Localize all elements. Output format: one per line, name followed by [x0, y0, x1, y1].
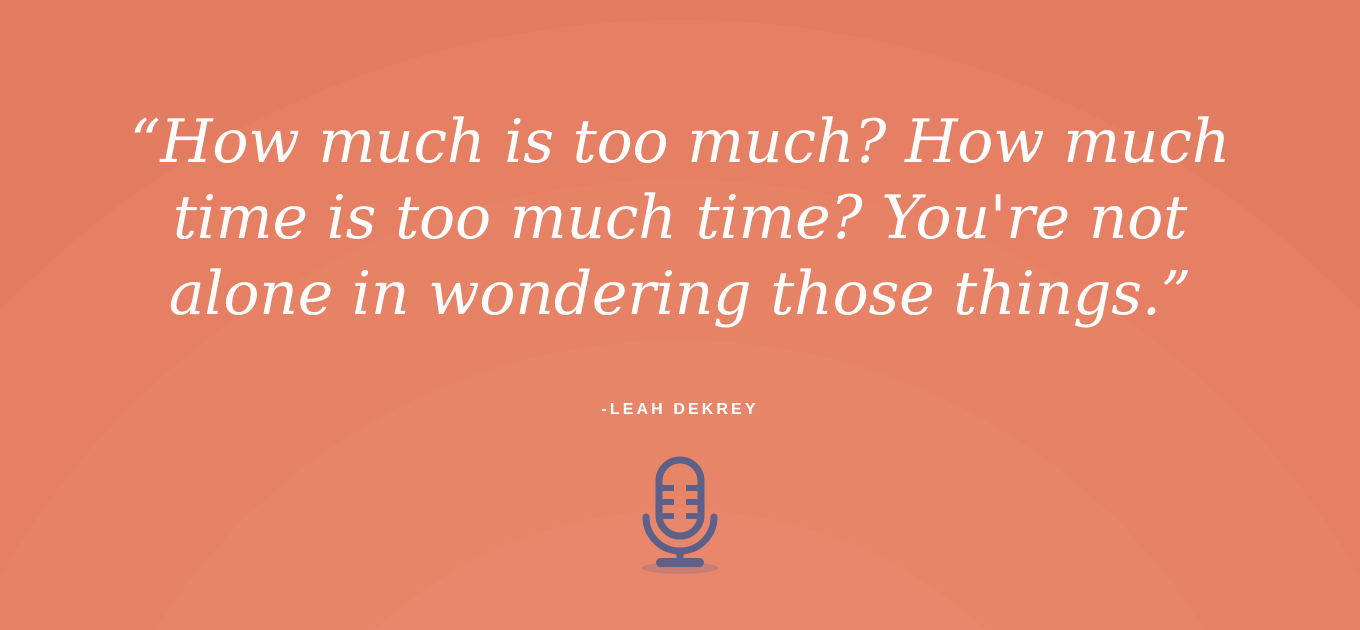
microphone-base	[656, 558, 704, 567]
quote-card: “How much is too much? How much time is …	[0, 0, 1360, 630]
microphone-icon	[630, 455, 730, 575]
quote-text: “How much is too much? How much time is …	[0, 104, 1360, 332]
quote-attribution: -LEAH DEKREY	[0, 401, 1360, 419]
microphone-capsule	[659, 460, 701, 536]
